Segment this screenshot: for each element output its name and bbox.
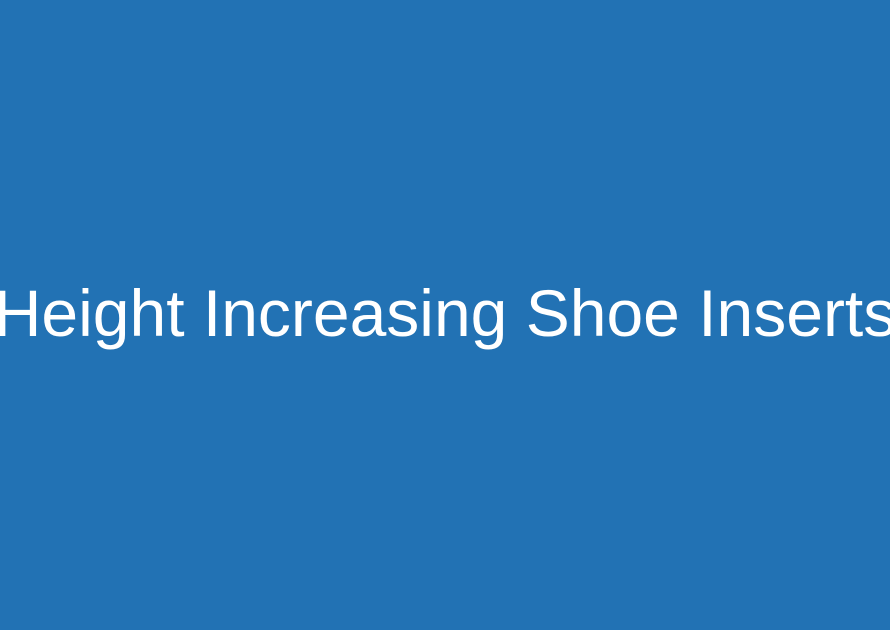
placeholder-banner: Height Increasing Shoe Inserts <box>0 0 890 630</box>
banner-title: Height Increasing Shoe Inserts <box>0 280 890 346</box>
